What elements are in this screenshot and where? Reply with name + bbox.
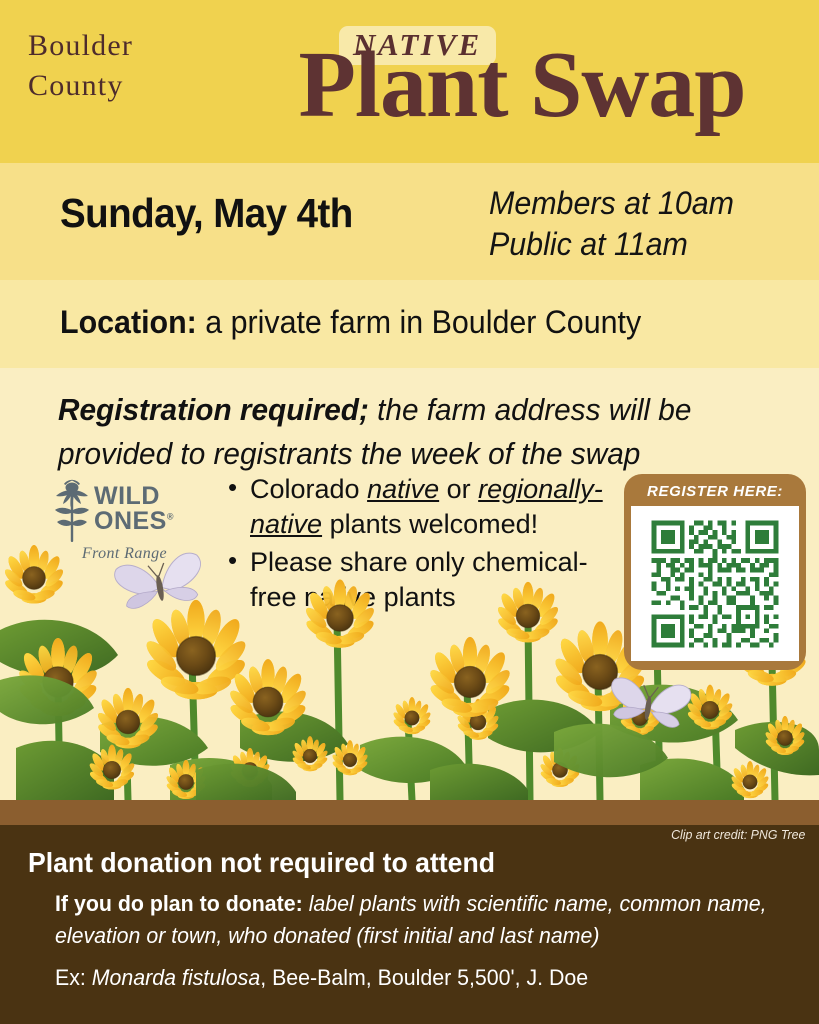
registration-note: Registration required; the farm address … xyxy=(58,388,749,476)
register-here-label: REGISTER HERE: xyxy=(631,483,799,500)
donation-example: Ex: Monarda fistulosa, Bee-Balm, Boulder… xyxy=(55,965,588,991)
donation-example-rest: , Bee-Balm, Boulder 5,500', J. Doe xyxy=(260,965,588,990)
bullet-part: Please share only chemical-free native p… xyxy=(250,547,588,612)
organization-name-line1: Boulder xyxy=(28,26,238,66)
footer-band: Clip art credit: PNG Tree Plant donation… xyxy=(0,825,819,1024)
list-item: Please share only chemical-free native p… xyxy=(250,545,632,615)
wild-ones-wordmark: WILD ONES® xyxy=(94,484,174,535)
registration-note-emphasis: Registration required; xyxy=(58,392,369,427)
members-time: Members at 10am xyxy=(489,183,734,224)
public-time: Public at 11am xyxy=(489,224,734,265)
wild-ones-word-line2: ONES xyxy=(94,507,167,535)
donation-example-species: Monarda fistulosa xyxy=(92,965,260,990)
location-band: Location: a private farm in Boulder Coun… xyxy=(0,280,819,368)
register-qr-panel[interactable]: REGISTER HERE: xyxy=(624,474,806,670)
footer-headline: Plant donation not required to attend xyxy=(28,847,495,879)
wild-ones-chapter: Front Range xyxy=(52,545,197,563)
event-location: Location: a private farm in Boulder Coun… xyxy=(60,304,641,341)
donation-example-label: Ex: xyxy=(55,965,92,990)
bullet-emphasis-native: native xyxy=(367,474,439,504)
donation-instructions-label: If you do plan to donate: xyxy=(55,891,303,916)
date-band: Sunday, May 4th Members at 10am Public a… xyxy=(0,163,819,280)
list-item: Colorado native or regionally-native pla… xyxy=(250,472,632,542)
header-band: Boulder County NATIVE Plant Swap xyxy=(0,0,819,163)
bullet-part: or xyxy=(439,474,478,504)
clip-art-credit: Clip art credit: PNG Tree xyxy=(671,827,805,842)
wild-ones-logo: WILD ONES® Front Range xyxy=(52,476,197,563)
donation-instructions: If you do plan to donate: label plants w… xyxy=(55,888,773,952)
poster-title-group: NATIVE Plant Swap xyxy=(232,6,812,161)
organization-name-line2: County xyxy=(28,66,238,106)
location-value: a private farm in Boulder County xyxy=(197,304,641,340)
poster: Boulder County NATIVE Plant Swap Sunday,… xyxy=(0,0,819,1024)
location-label: Location: xyxy=(60,304,197,340)
event-date: Sunday, May 4th xyxy=(60,190,353,237)
coneflower-icon xyxy=(52,476,92,542)
qr-code-icon[interactable] xyxy=(631,506,799,661)
plant-guidelines-list: Colorado native or regionally-native pla… xyxy=(228,472,632,618)
footer-accent-strip xyxy=(0,800,819,825)
wild-ones-word-line1: WILD xyxy=(94,482,160,510)
event-times: Members at 10am Public at 11am xyxy=(489,183,734,264)
registered-trademark-icon: ® xyxy=(167,512,174,522)
page-title: Plant Swap xyxy=(232,38,812,132)
bullet-part: plants welcomed! xyxy=(322,509,538,539)
bullet-part: Colorado xyxy=(250,474,367,504)
organization-name: Boulder County xyxy=(28,26,238,105)
